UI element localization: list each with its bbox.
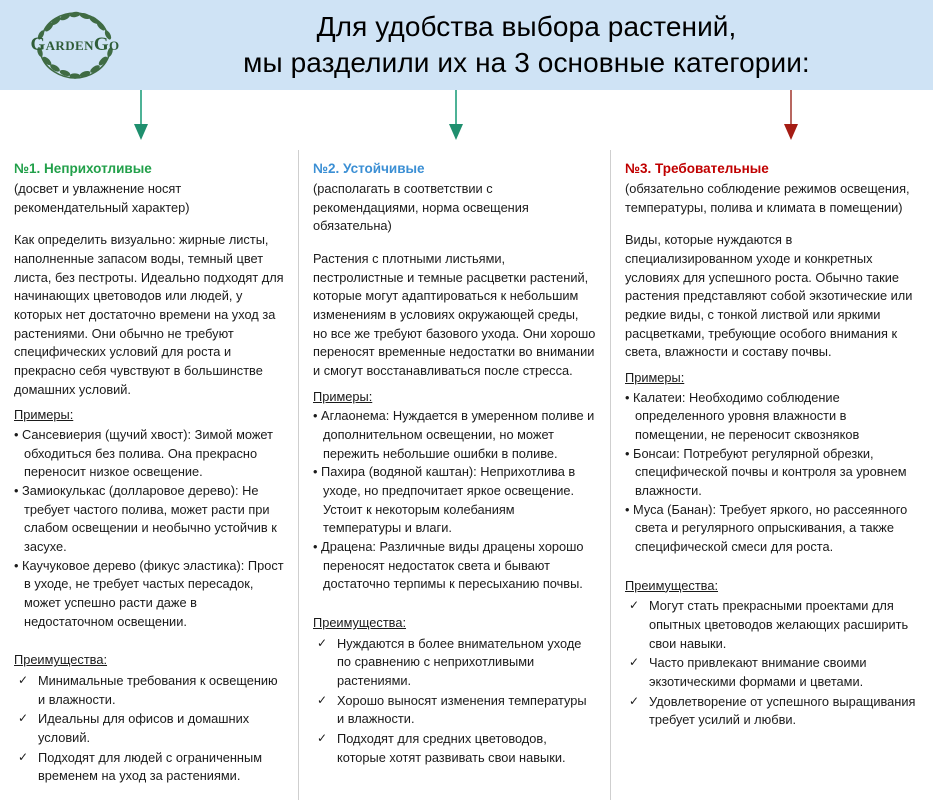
category-column-1: №1. Неприхотливые (досвет и увлажнение н… [0,150,298,800]
category-3-subtitle: (обязательно соблюдение режимов освещени… [625,180,919,217]
list-item: Каучуковое дерево (фикус эластика): Прос… [14,557,284,632]
category-1-advantages-list: ✓Минимальные требования к освещению и вл… [14,672,284,786]
arrow-down-category-3 [776,90,806,142]
category-2-subtitle: (располагать в соответствии с рекомендац… [313,180,596,236]
category-3-examples-list: Калатеи: Необходимо соблюдение определен… [625,389,919,557]
category-column-3: №3. Требовательные (обязательно соблюден… [610,150,933,800]
spacer [313,604,596,614]
check-icon: ✓ [629,693,639,711]
list-item-label: Хорошо выносят изменения температуры и в… [337,693,587,727]
list-item-label: Подходят для средних цветоводов, которые… [337,731,566,765]
category-2-examples-list: Аглаонема: Нуждается в умеренном поливе … [313,407,596,594]
page-title: Для удобства выбора растений, мы раздели… [150,9,933,81]
list-item: ✓Нуждаются в более внимательном уходе по… [313,635,596,691]
category-3-examples-label: Примеры: [625,369,919,388]
check-icon: ✓ [317,692,327,710]
category-arrows [0,90,933,150]
category-1-advantages-label: Преимущества: [14,651,284,670]
brand-logo[interactable]: GardenGo [0,0,150,90]
category-3-advantages-label: Преимущества: [625,577,919,596]
arrow-down-category-2 [441,90,471,142]
list-item-label: Удовлетворение от успешного выращивания … [649,694,915,728]
category-2-examples-label: Примеры: [313,388,596,407]
category-1-description: Как определить визуально: жирные листы, … [14,231,284,399]
list-item: Калатеи: Необходимо соблюдение определен… [625,389,919,445]
list-item: ✓Подходят для средних цветоводов, которы… [313,730,596,767]
list-item: Драцена: Различные виды драцены хорошо п… [313,538,596,594]
list-item: ✓Минимальные требования к освещению и вл… [14,672,284,709]
check-icon: ✓ [18,710,28,728]
list-item-label: Нуждаются в более внимательном уходе по … [337,636,581,688]
page-title-line-2: мы разделили их на 3 основные категории: [150,45,903,81]
brand-logo-text: GardenGo [30,34,119,55]
list-item: Пахира (водяной каштан): Неприхотлива в … [313,463,596,538]
check-icon: ✓ [18,672,28,690]
check-icon: ✓ [317,635,327,653]
category-2-advantages-list: ✓Нуждаются в более внимательном уходе по… [313,635,596,768]
list-item: Аглаонема: Нуждается в умеренном поливе … [313,407,596,463]
list-item: Бонсаи: Потребуют регулярной обрезки, сп… [625,445,919,501]
category-3-description: Виды, которые нуждаются в специализирова… [625,231,919,362]
check-icon: ✓ [18,749,28,767]
laurel-wreath-icon: GardenGo [11,3,139,87]
spacer [625,567,919,577]
list-item: Муса (Банан): Требует яркого, но рассеян… [625,501,919,557]
arrow-down-category-1 [126,90,156,142]
category-1-heading: №1. Неприхотливые [14,160,284,179]
category-2-heading: №2. Устойчивые [313,160,596,179]
list-item: Замиокулькас (долларовое дерево): Не тре… [14,482,284,557]
category-2-description: Растения с плотными листьями, пестролист… [313,250,596,381]
list-item: ✓Хорошо выносят изменения температуры и … [313,692,596,729]
check-icon: ✓ [317,730,327,748]
check-icon: ✓ [629,654,639,672]
category-3-heading: №3. Требовательные [625,160,919,179]
list-item-label: Идеальны для офисов и домашних условий. [38,711,249,745]
page-header: GardenGo Для удобства выбора растений, м… [0,0,933,90]
page-title-line-1: Для удобства выбора растений, [317,11,737,42]
list-item: ✓Идеальны для офисов и домашних условий. [14,710,284,747]
list-item-label: Часто привлекают внимание своими экзотич… [649,655,867,689]
check-icon: ✓ [629,597,639,615]
category-columns: №1. Неприхотливые (досвет и увлажнение н… [0,150,933,800]
category-3-advantages-list: ✓Могут стать прекрасными проектами для о… [625,597,919,730]
category-1-subtitle: (досвет и увлажнение носят рекомендатель… [14,180,284,217]
list-item: ✓Подходят для людей с ограниченным време… [14,749,284,786]
list-item: ✓Удовлетворение от успешного выращивания… [625,693,919,730]
list-item-label: Подходят для людей с ограниченным времен… [38,750,262,784]
category-1-examples-list: Сансевиерия (щучий хвост): Зимой может о… [14,426,284,631]
category-column-2: №2. Устойчивые (располагать в соответств… [298,150,610,800]
list-item: ✓Могут стать прекрасными проектами для о… [625,597,919,653]
category-2-advantages-label: Преимущества: [313,614,596,633]
list-item: Сансевиерия (щучий хвост): Зимой может о… [14,426,284,482]
list-item-label: Минимальные требования к освещению и вла… [38,673,278,707]
spacer [14,641,284,651]
list-item: ✓Часто привлекают внимание своими экзоти… [625,654,919,691]
list-item-label: Могут стать прекрасными проектами для оп… [649,598,908,650]
category-1-examples-label: Примеры: [14,406,284,425]
